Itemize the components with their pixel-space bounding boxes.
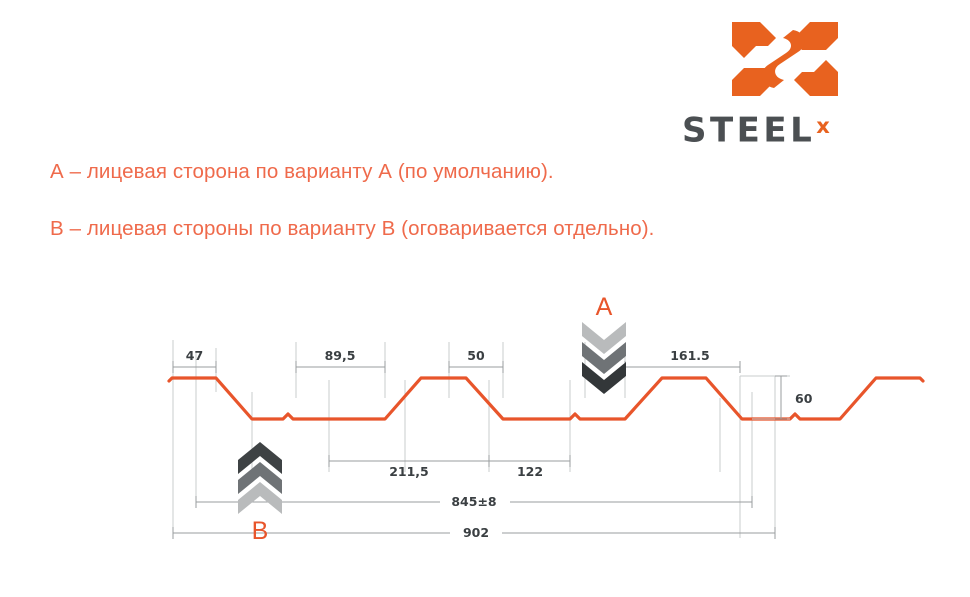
- steel-x-logo-mark: [730, 18, 840, 100]
- marker-b-label: В: [252, 517, 269, 545]
- marker-a: А: [582, 293, 626, 394]
- note-line-variant-b: В – лицевая стороны по варианту В (огова…: [50, 217, 654, 241]
- logo-superscript-x: x: [816, 114, 830, 138]
- dimension-60: 60: [740, 376, 813, 419]
- logo-steel-text: STEEL: [682, 110, 815, 150]
- dimension-89-5-label: 89,5: [325, 348, 356, 363]
- dimension-47: 47: [173, 348, 216, 373]
- dimension-902-label: 902: [463, 525, 489, 540]
- logo-wordmark: STEELx: [682, 110, 882, 146]
- profile-drawing: 47 89,5 50 161.5 211,5 122: [0, 280, 970, 560]
- dimension-211-5-label: 211,5: [389, 464, 429, 479]
- dimension-211-5: 211,5: [329, 455, 489, 479]
- dimension-845-label: 845±8: [451, 494, 496, 509]
- dimension-161-5-label: 161.5: [670, 348, 710, 363]
- dimension-60-label: 60: [795, 391, 813, 406]
- dimension-161-5: 161.5: [625, 348, 740, 373]
- note-line-variant-a: А – лицевая сторона по варианту А (по ум…: [50, 160, 554, 184]
- dimension-122-label: 122: [517, 464, 543, 479]
- dimension-47-label: 47: [186, 348, 203, 363]
- marker-a-label: А: [596, 293, 613, 321]
- dimension-122: 122: [489, 455, 570, 479]
- dimension-89-5: 89,5: [296, 348, 385, 373]
- dimension-50-label: 50: [467, 348, 485, 363]
- brand-logo: STEELx: [682, 18, 882, 143]
- marker-b: В: [238, 442, 282, 545]
- dimension-50: 50: [449, 348, 503, 373]
